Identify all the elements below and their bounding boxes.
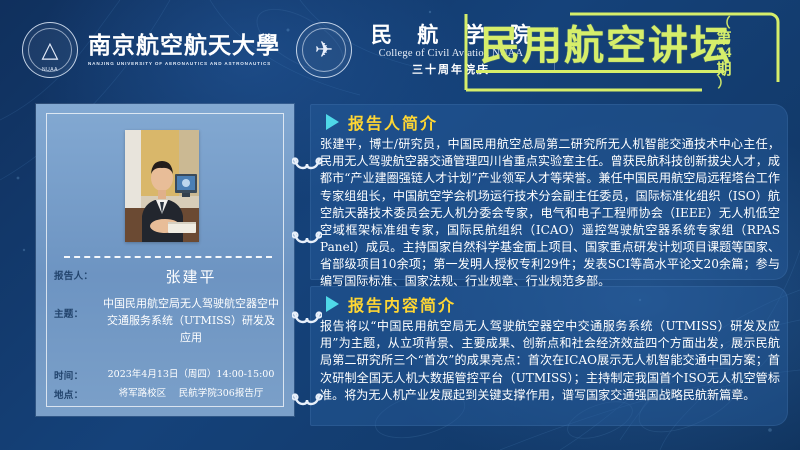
nuaa-seal-abbr: NUAA [23,67,77,73]
speaker-bio-text: 张建平，博士/研究员，中国民用航空总局第二研究所无人机智能交通技术中心主任，民用… [310,135,788,293]
row-speaker-label: 报告人： [54,266,102,282]
poster-root: △ NUAA 南京航空航天大學 NANJING UNIVERSITY OF AE… [0,0,800,450]
content-panels: 报告人简介 张建平，博士/研究员，中国民用航空总局第二研究所无人机智能交通技术中… [310,104,788,434]
play-triangle-icon [326,114,339,130]
content-abstract-heading: 报告内容简介 [310,286,788,317]
speaker-bio-panel: 报告人简介 张建平，博士/研究员，中国民用航空总局第二研究所无人机智能交通技术中… [310,104,788,280]
ribbon-curl-icon [292,310,322,326]
content-abstract-text: 报告将以“中国民用航空局无人驾驶航空器空中交通服务系统（UTMISS）研发及应用… [310,317,788,406]
university-name-cn: 南京航空航天大學 [88,34,280,58]
speaker-bio-heading: 报告人简介 [310,104,788,135]
ribbon-curl-icon [292,230,322,246]
speaker-photo [125,130,199,242]
card-dashed-divider [64,256,272,258]
card-detail-rows: 报告人： 张建平 主题： 中国民用航空局无人驾驶航空器空中交通服务系统（UTMI… [54,266,280,405]
row-time: 时间： 2023年4月13日（周四）14:00-15:00 [54,368,280,382]
ribbon-curl-icon [292,392,322,408]
university-name-en: NANJING UNIVERSITY OF AERONAUTICS AND AS… [88,61,280,66]
content-abstract-title: 报告内容简介 [348,292,456,316]
ribbon-curl-icon [292,156,322,172]
cca-seal-glyph: ✈ [297,23,351,77]
banner-title: 民用航空讲坛 [480,26,732,66]
issue-prefix: 第 [716,31,731,47]
row-topic: 主题： 中国民用航空局无人驾驶航空器空中交通服务系统（UTMISS）研发及应用 [54,295,280,346]
row-topic-label: 主题： [54,295,102,320]
title-banner: 民用航空讲坛 （ 第 34 期 ） [452,8,790,96]
row-place-label: 地点： [54,387,102,401]
row-speaker-value: 张建平 [102,266,280,291]
issue-paren-open: （ [717,17,730,31]
cca-seal-icon: ✈ [296,22,352,78]
speaker-bio-title: 报告人简介 [348,110,438,134]
row-speaker: 报告人： 张建平 [54,266,280,291]
issue-paren-close: ） [717,77,730,91]
row-topic-value: 中国民用航空局无人驾驶航空器空中交通服务系统（UTMISS）研发及应用 [102,295,280,346]
row-place: 地点： 将军路校区 民航学院306报告厅 [54,387,280,401]
banner-title-underline [476,70,724,73]
speaker-info-card: 报告人： 张建平 主题： 中国民用航空局无人驾驶航空器空中交通服务系统（UTMI… [36,104,294,416]
play-triangle-icon [326,296,339,312]
university-name-block: 南京航空航天大學 NANJING UNIVERSITY OF AERONAUTI… [88,34,280,66]
row-time-label: 时间： [54,368,102,382]
header: △ NUAA 南京航空航天大學 NANJING UNIVERSITY OF AE… [0,0,800,104]
nuaa-seal-icon: △ NUAA [22,22,78,78]
banner-issue: （ 第 34 期 ） [704,20,744,88]
content-abstract-panel: 报告内容简介 报告将以“中国民用航空局无人驾驶航空器空中交通服务系统（UTMIS… [310,286,788,426]
row-place-value: 将军路校区 民航学院306报告厅 [102,387,280,401]
row-time-value: 2023年4月13日（周四）14:00-15:00 [102,368,280,382]
